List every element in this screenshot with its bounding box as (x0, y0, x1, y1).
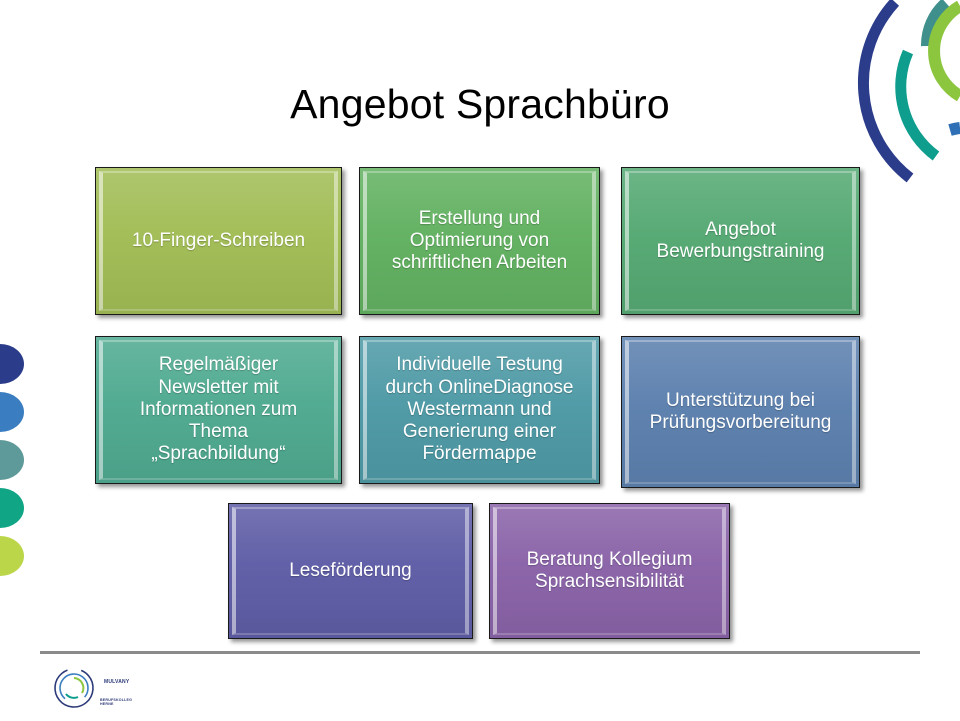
box-beratung-kollegium[interactable]: Beratung Kollegium Sprachsensibilität (489, 503, 730, 639)
box-angebot-bewerbungstraining[interactable]: Angebot Bewerbungstraining (621, 167, 860, 315)
box-newsletter[interactable]: Regelmäßiger Newsletter mit Informatione… (95, 336, 342, 484)
box-lesefoerderung[interactable]: Leseförderung (228, 503, 473, 639)
edge-dot-lime (0, 536, 24, 576)
box-individuelle-testung[interactable]: Individuelle Testung durch OnlineDiagnos… (359, 336, 600, 484)
edge-dot-blue (0, 392, 24, 432)
logo-wordmark: MULVANY (104, 679, 129, 685)
box-label: Individuelle Testung durch OnlineDiagnos… (385, 354, 573, 465)
box-label: 10-Finger-Schreiben (132, 230, 305, 252)
box-label: Unterstützung bei Prüfungsvorbereitung (650, 390, 832, 434)
ring-teal-dark-icon (927, 3, 946, 46)
box-label: Angebot Bewerbungstraining (657, 219, 825, 263)
edge-dot-navy (0, 344, 24, 384)
logo-subtitle: BERUFSKOLLEG HERNE (100, 698, 132, 707)
mulvany-logo-icon (42, 660, 148, 716)
box-label: Beratung Kollegium Sprachsensibilität (527, 549, 693, 593)
box-label: Regelmäßiger Newsletter mit Informatione… (140, 354, 297, 465)
box-label: Leseförderung (289, 560, 412, 582)
box-10-finger-schreiben[interactable]: 10-Finger-Schreiben (95, 167, 342, 315)
footer-logo: MULVANY BERUFSKOLLEG HERNE (42, 660, 148, 716)
box-label: Erstellung und Optimierung von schriftli… (392, 208, 567, 275)
box-erstellung-optimierung[interactable]: Erstellung und Optimierung von schriftli… (359, 167, 600, 315)
box-pruefungsvorbereitung[interactable]: Unterstützung bei Prüfungsvorbereitung (621, 336, 860, 488)
ring-blue-tick-icon (950, 128, 960, 130)
page-title: Angebot Sprachbüro (0, 82, 960, 127)
bottom-divider (40, 651, 920, 654)
edge-dot-teal-green (0, 488, 24, 528)
edge-dot-teal-gray (0, 440, 24, 480)
edge-dots-decoration (0, 344, 26, 564)
